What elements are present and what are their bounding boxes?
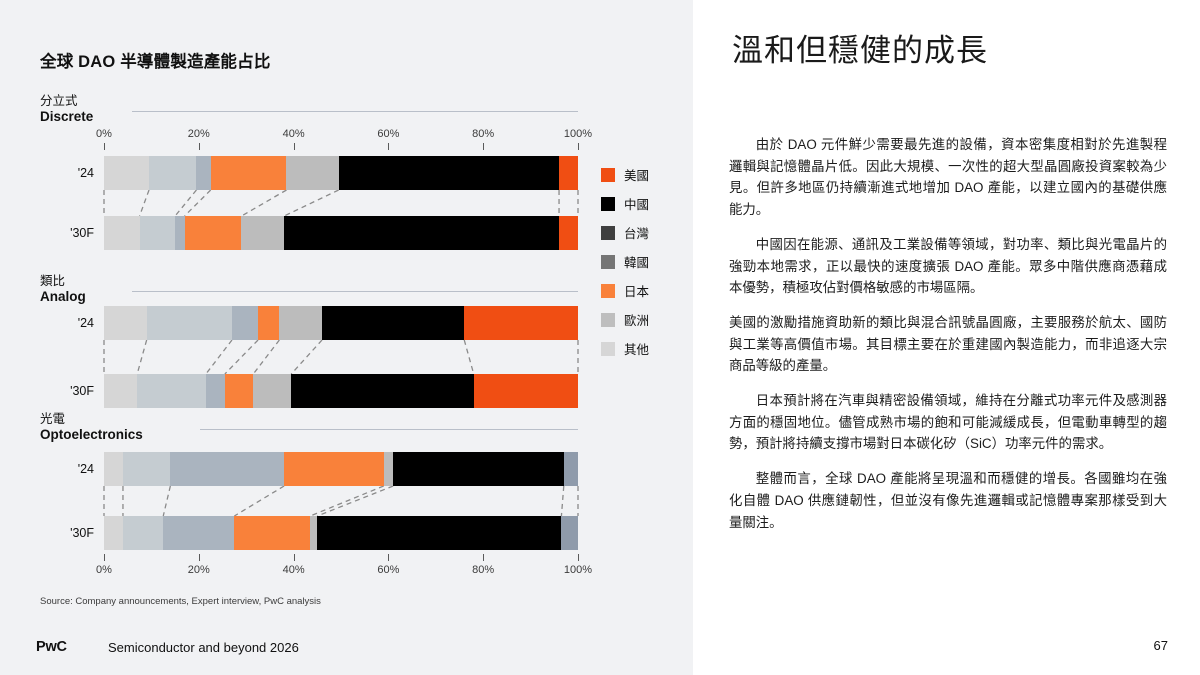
bar-segment bbox=[232, 306, 258, 340]
section-label-analog: 類比Analog bbox=[40, 274, 200, 305]
body-paragraph: 整體而言，全球 DAO 產能將呈現溫和而穩健的增長。各國雖均在強化自體 DAO … bbox=[729, 468, 1167, 533]
headline: 溫和但穩健的成長 bbox=[732, 32, 1172, 69]
x-tick-mark bbox=[483, 143, 484, 150]
bar-segment bbox=[149, 156, 196, 190]
x-tick-mark bbox=[388, 554, 389, 561]
legend-swatch-icon bbox=[601, 197, 615, 211]
segment-connectors bbox=[0, 190, 693, 216]
legend-label: 其他 bbox=[624, 339, 649, 358]
legend-label: 韓國 bbox=[624, 252, 649, 271]
bar-segment bbox=[464, 306, 578, 340]
x-tick-label: 20% bbox=[188, 564, 210, 576]
text-panel: 溫和但穩健的成長 由於 DAO 元件鮮少需要最先進的設備，資本密集度相對於先進製… bbox=[693, 0, 1200, 675]
bar-segment bbox=[104, 516, 123, 550]
bar-segment bbox=[123, 452, 170, 486]
bar-segment bbox=[284, 216, 559, 250]
body-paragraph: 中國因在能源、通訊及工業設備等領域，對功率、類比與光電晶片的強勁本地需求，正以最… bbox=[729, 234, 1167, 299]
section-label-cn: 光電 bbox=[40, 412, 200, 427]
legend-swatch-icon bbox=[601, 284, 615, 298]
x-tick-label: 40% bbox=[283, 564, 305, 576]
legend-swatch-icon bbox=[601, 168, 615, 182]
body-paragraph: 由於 DAO 元件鮮少需要最先進的設備，資本密集度相對於先進製程邏輯與記憶體晶片… bbox=[729, 134, 1167, 221]
section-label-discrete: 分立式Discrete bbox=[40, 94, 200, 125]
x-tick-label: 0% bbox=[96, 128, 112, 140]
x-tick-label: 80% bbox=[472, 564, 494, 576]
bar-segment bbox=[196, 156, 210, 190]
legend-swatch-icon bbox=[601, 342, 615, 356]
x-tick-label: 60% bbox=[377, 128, 399, 140]
bar-segment bbox=[104, 452, 123, 486]
legend-swatch-icon bbox=[601, 226, 615, 240]
bar-segment bbox=[317, 516, 561, 550]
section-label-en: Optoelectronics bbox=[40, 427, 200, 443]
bar-segment bbox=[185, 216, 242, 250]
x-tick-mark bbox=[294, 143, 295, 150]
legend-item: 日本 bbox=[601, 276, 691, 305]
chart-legend: 美國中國台灣韓國日本歐洲其他 bbox=[601, 160, 691, 363]
bar-segment bbox=[170, 452, 284, 486]
bar-segment bbox=[147, 306, 232, 340]
x-axis-optoelectronics: 0%20%40%60%80%100% bbox=[0, 554, 693, 576]
x-tick-label: 20% bbox=[188, 128, 210, 140]
bar-segment bbox=[253, 374, 291, 408]
bar-segment bbox=[140, 216, 176, 250]
bar-segment bbox=[163, 516, 234, 550]
bar-segment bbox=[474, 374, 578, 408]
stacked-bar bbox=[104, 374, 578, 408]
bar-segment bbox=[175, 216, 184, 250]
stacked-bar bbox=[104, 216, 578, 250]
bar-segment bbox=[241, 216, 284, 250]
bar-segment bbox=[225, 374, 253, 408]
source-note: Source: Company announcements, Expert in… bbox=[40, 596, 321, 607]
bar-segment bbox=[559, 156, 578, 190]
bar-segment bbox=[234, 516, 310, 550]
footer-brand-pwc: PwC bbox=[36, 639, 67, 655]
section-label-optoelectronics: 光電Optoelectronics bbox=[40, 412, 200, 443]
x-tick-label: 100% bbox=[564, 564, 592, 576]
bar-segment bbox=[561, 516, 578, 550]
bar-segment bbox=[206, 374, 225, 408]
page-number: 67 bbox=[1154, 638, 1168, 653]
legend-item: 台灣 bbox=[601, 218, 691, 247]
x-tick-label: 100% bbox=[564, 128, 592, 140]
x-tick-mark bbox=[104, 143, 105, 150]
segment-connectors bbox=[0, 340, 693, 374]
legend-item: 韓國 bbox=[601, 247, 691, 276]
bar-segment bbox=[137, 374, 206, 408]
chart-panel: 全球 DAO 半導體製造產能占比 分立式Discrete0%20%40%60%8… bbox=[0, 0, 693, 675]
x-tick-label: 80% bbox=[472, 128, 494, 140]
legend-label: 中國 bbox=[624, 194, 649, 213]
bar-segment bbox=[284, 452, 384, 486]
segment-connectors bbox=[0, 486, 693, 516]
x-tick-mark bbox=[578, 554, 579, 561]
body-paragraph: 美國的激勵措施資助新的類比與混合訊號晶圓廠，主要服務於航太、國防與工業等高價值市… bbox=[729, 312, 1167, 377]
bar-segment bbox=[339, 156, 559, 190]
x-tick-mark bbox=[199, 143, 200, 150]
x-tick-label: 60% bbox=[377, 564, 399, 576]
section-divider-analog bbox=[132, 291, 578, 292]
bar-segment bbox=[322, 306, 464, 340]
footer-document-title: Semiconductor and beyond 2026 bbox=[108, 640, 299, 655]
legend-item: 美國 bbox=[601, 160, 691, 189]
legend-item: 中國 bbox=[601, 189, 691, 218]
slide: 全球 DAO 半導體製造產能占比 分立式Discrete0%20%40%60%8… bbox=[0, 0, 1200, 675]
section-label-cn: 類比 bbox=[40, 274, 200, 289]
bar-row-label: '24 bbox=[40, 166, 94, 180]
legend-swatch-icon bbox=[601, 313, 615, 327]
page-title: 全球 DAO 半導體製造產能占比 bbox=[40, 48, 271, 72]
legend-label: 日本 bbox=[624, 281, 649, 300]
bar-segment bbox=[211, 156, 287, 190]
bar-segment bbox=[279, 306, 322, 340]
bar-segment bbox=[123, 516, 163, 550]
bar-segment bbox=[104, 306, 147, 340]
x-axis-discrete: 0%20%40%60%80%100% bbox=[0, 128, 693, 150]
bar-segment bbox=[559, 216, 578, 250]
stacked-bar bbox=[104, 306, 578, 340]
bar-segment bbox=[286, 156, 338, 190]
body-copy: 由於 DAO 元件鮮少需要最先進的設備，資本密集度相對於先進製程邏輯與記憶體晶片… bbox=[729, 134, 1167, 546]
bar-row-label: '30F bbox=[40, 384, 94, 398]
legend-item: 歐洲 bbox=[601, 305, 691, 334]
x-tick-mark bbox=[483, 554, 484, 561]
bar-segment bbox=[104, 156, 149, 190]
bar-segment bbox=[291, 374, 473, 408]
legend-label: 台灣 bbox=[624, 223, 649, 242]
stacked-bar bbox=[104, 452, 578, 486]
bar-segment bbox=[393, 452, 564, 486]
x-tick-label: 0% bbox=[96, 564, 112, 576]
x-tick-mark bbox=[578, 143, 579, 150]
x-tick-label: 40% bbox=[283, 128, 305, 140]
legend-label: 美國 bbox=[624, 165, 649, 184]
bar-row-label: '24 bbox=[40, 316, 94, 330]
section-label-cn: 分立式 bbox=[40, 94, 200, 109]
bar-segment bbox=[310, 516, 317, 550]
bar-row-label: '24 bbox=[40, 462, 94, 476]
section-divider-discrete bbox=[132, 111, 578, 112]
legend-label: 歐洲 bbox=[624, 310, 649, 329]
bar-segment bbox=[104, 374, 137, 408]
x-tick-mark bbox=[104, 554, 105, 561]
x-tick-mark bbox=[294, 554, 295, 561]
bar-row-label: '30F bbox=[40, 526, 94, 540]
legend-swatch-icon bbox=[601, 255, 615, 269]
x-tick-mark bbox=[199, 554, 200, 561]
legend-item: 其他 bbox=[601, 334, 691, 363]
bar-segment bbox=[384, 452, 393, 486]
bar-segment bbox=[104, 216, 140, 250]
body-paragraph: 日本預計將在汽車與精密設備領域，維持在分離式功率元件及感測器方面的穩固地位。儘管… bbox=[729, 390, 1167, 455]
section-divider-optoelectronics bbox=[200, 429, 578, 430]
stacked-bar bbox=[104, 516, 578, 550]
bar-segment bbox=[258, 306, 279, 340]
bar-segment bbox=[564, 452, 578, 486]
x-tick-mark bbox=[388, 143, 389, 150]
stacked-bar bbox=[104, 156, 578, 190]
bar-row-label: '30F bbox=[40, 226, 94, 240]
